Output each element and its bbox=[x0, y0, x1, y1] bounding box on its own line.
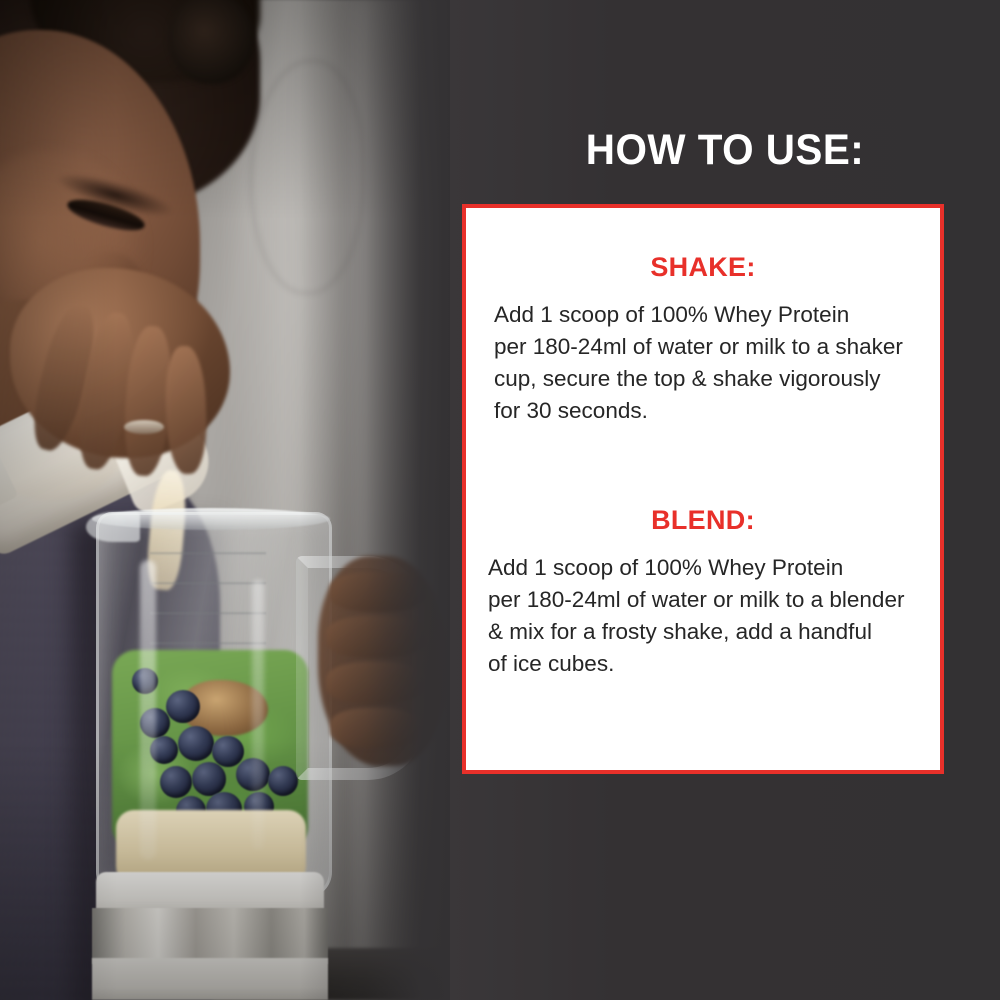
page-title: HOW TO USE: bbox=[467, 126, 984, 175]
instruction-line: per 180-24ml of water or milk to a blend… bbox=[488, 584, 922, 616]
section-heading-shake: SHAKE: bbox=[484, 252, 922, 283]
instruction-line: for 30 seconds. bbox=[488, 395, 922, 427]
instruction-line: of ice cubes. bbox=[488, 648, 922, 680]
instructions-card: SHAKE: Add 1 scoop of 100% Whey Protein … bbox=[462, 204, 944, 774]
instructions-panel: HOW TO USE: SHAKE: Add 1 scoop of 100% W… bbox=[450, 0, 1000, 1000]
instruction-line: & mix for a frosty shake, add a handful bbox=[488, 616, 922, 648]
section-heading-blend: BLEND: bbox=[484, 505, 922, 536]
section-blend: BLEND: Add 1 scoop of 100% Whey Protein … bbox=[484, 505, 922, 680]
instruction-line: Add 1 scoop of 100% Whey Protein bbox=[488, 552, 922, 584]
section-spacer bbox=[484, 427, 922, 505]
section-body-shake: Add 1 scoop of 100% Whey Protein per 180… bbox=[484, 299, 922, 427]
instruction-line: Add 1 scoop of 100% Whey Protein bbox=[488, 299, 922, 331]
photo-fade-to-background bbox=[300, 0, 450, 1000]
section-body-blend: Add 1 scoop of 100% Whey Protein per 180… bbox=[484, 552, 922, 680]
instructions-card-inner: SHAKE: Add 1 scoop of 100% Whey Protein … bbox=[466, 208, 940, 680]
product-usage-photo bbox=[0, 0, 450, 1000]
promo-graphic: HOW TO USE: SHAKE: Add 1 scoop of 100% W… bbox=[0, 0, 1000, 1000]
instruction-line: cup, secure the top & shake vigorously bbox=[488, 363, 922, 395]
section-shake: SHAKE: Add 1 scoop of 100% Whey Protein … bbox=[484, 252, 922, 427]
instruction-line: per 180-24ml of water or milk to a shake… bbox=[488, 331, 922, 363]
